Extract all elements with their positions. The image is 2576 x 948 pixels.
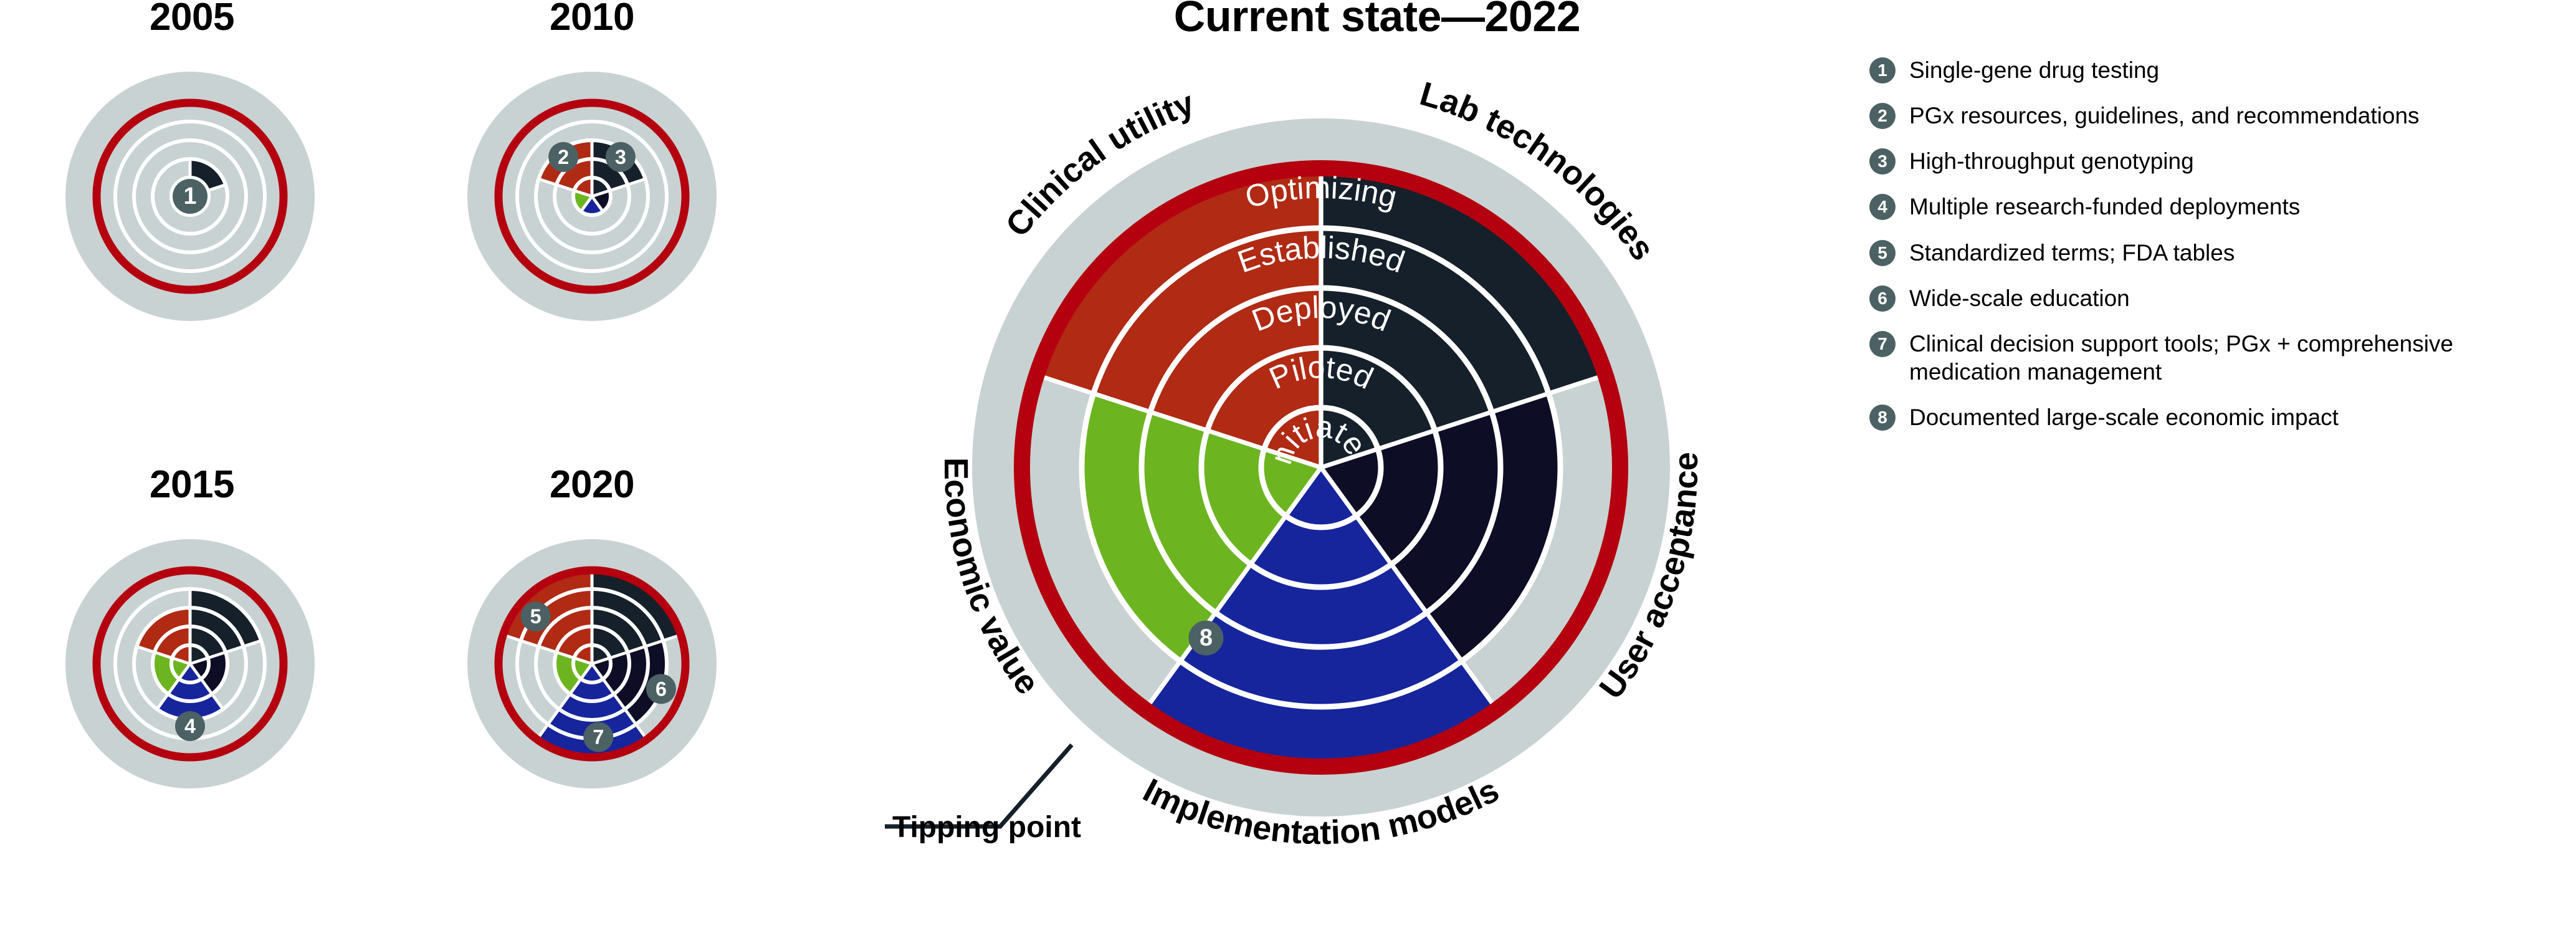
radial-chart-2005-svg: 1: [47, 53, 333, 340]
badge-label-7: 7: [593, 726, 604, 749]
legend-text-3: High-throughput genotyping: [1909, 147, 2194, 175]
panel-title-2015: 2015: [92, 462, 292, 507]
list-item: 8 Documented large-scale economic impact: [1869, 403, 2574, 431]
legend-text-2: PGx resources, guidelines, and recommend…: [1909, 102, 2420, 130]
legend-badge-8: 8: [1869, 405, 1896, 431]
main-chart-title: Current state—2022: [1059, 0, 1695, 41]
legend-text-5: Standardized terms; FDA tables: [1909, 239, 2235, 267]
radial-chart-2020: 567: [449, 520, 735, 807]
legend-text-6: Wide-scale education: [1909, 284, 2130, 312]
panel-title-2005: 2005: [92, 0, 292, 39]
legend-badge-2: 2: [1869, 103, 1896, 129]
radial-chart-2015-svg: 4: [47, 520, 333, 807]
badge-label-1: 1: [183, 183, 196, 209]
badge-label-6: 6: [656, 677, 667, 700]
legend-badge-7: 7: [1869, 331, 1896, 357]
legend-badge-6: 6: [1869, 285, 1896, 312]
legend-badge-5: 5: [1869, 240, 1896, 266]
panel-title-2010: 2010: [492, 0, 692, 39]
radial-chart-2005: 1: [47, 53, 333, 340]
radial-chart-2010: 23: [449, 53, 735, 340]
badge-label-4: 4: [184, 715, 196, 737]
badge-label-2: 2: [558, 146, 569, 168]
list-item: 5 Standardized terms; FDA tables: [1869, 239, 2574, 267]
list-item: 7 Clinical decision support tools; PGx +…: [1869, 330, 2574, 386]
badge-label-8: 8: [1200, 625, 1213, 651]
legend-badge-4: 4: [1869, 194, 1896, 220]
legend-text-8: Documented large-scale economic impact: [1909, 403, 2339, 431]
legend-badge-3: 3: [1869, 148, 1896, 175]
radial-chart-2010-svg: 23: [449, 53, 735, 340]
legend: 1 Single-gene drug testing 2 PGx resourc…: [1869, 56, 2574, 449]
tipping-point-label: Tipping point: [892, 810, 1081, 845]
panel-title-2020: 2020: [492, 462, 692, 507]
list-item: 6 Wide-scale education: [1869, 284, 2574, 312]
figure-root: 2005 2010 2015 2020 Current state—2022 1…: [0, 0, 2576, 948]
legend-text-1: Single-gene drug testing: [1909, 56, 2159, 84]
legend-text-4: Multiple research-funded deployments: [1909, 193, 2300, 221]
badge-label-3: 3: [615, 146, 626, 168]
list-item: 1 Single-gene drug testing: [1869, 56, 2574, 84]
legend-badge-1: 1: [1869, 57, 1896, 84]
list-item: 3 High-throughput genotyping: [1869, 147, 2574, 175]
list-item: 2 PGx resources, guidelines, and recomme…: [1869, 102, 2574, 130]
radial-chart-2015: 4: [47, 520, 333, 807]
badge-label-5: 5: [530, 605, 541, 628]
list-item: 4 Multiple research-funded deployments: [1869, 193, 2574, 221]
radial-chart-2020-svg: 567: [449, 520, 735, 807]
legend-text-7: Clinical decision support tools; PGx + c…: [1909, 330, 2557, 386]
